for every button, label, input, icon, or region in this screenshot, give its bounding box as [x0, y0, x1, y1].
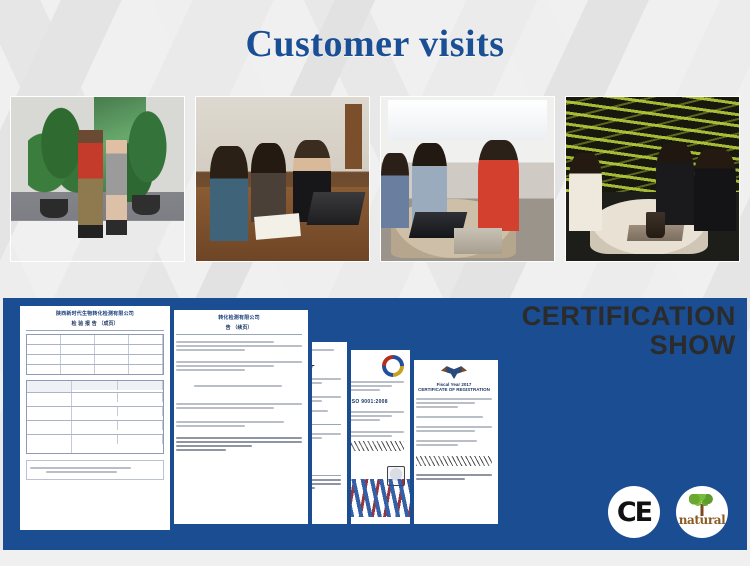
certificate-4-sheet: ISO 9001:2008 — [344, 350, 410, 524]
certificate-of-registration[interactable]: Fiscal Year 2017 CERTIFICATE OF REGISTRA… — [406, 356, 502, 528]
certificate-1-subtitle: 检 验 报 告 （成页） — [26, 320, 164, 327]
photo-4-person-2 — [608, 136, 650, 221]
photo-1-pot-right — [132, 195, 160, 215]
tree-icon — [689, 494, 715, 512]
photo-2-person-1 — [210, 146, 248, 241]
photo-1-plant-right — [118, 110, 177, 202]
certificate-5-eagle-emblem — [441, 365, 467, 379]
certificate-1-title: 陕西新时代生物转化检测有限公司 — [26, 311, 164, 319]
certification-heading-line2: SHOW — [456, 331, 736, 360]
natural-badge[interactable]: natural — [676, 486, 728, 538]
certificate-4-accreditation-emblem — [382, 355, 404, 377]
photo-2-person-2 — [251, 143, 286, 222]
customer-visit-photo-strip — [10, 96, 740, 262]
certificate-5-sheet: Fiscal Year 2017 CERTIFICATE OF REGISTRA… — [410, 360, 498, 524]
certificate-inspection-report-cn-continued[interactable]: 转化检测有限公司 告 （续页） — [166, 306, 312, 528]
photo-3-person-1 — [381, 153, 409, 228]
certificate-1-info-table — [26, 334, 164, 375]
certificate-1-divider — [26, 330, 164, 331]
certificate-iso-9001[interactable]: ISO 9001:2008 — [340, 346, 414, 528]
certificate-2-divider — [176, 334, 302, 335]
certificate-4-signature — [350, 441, 404, 451]
certificate-2-body — [176, 341, 302, 451]
natural-badge-label: natural — [676, 513, 728, 527]
customer-visit-photo-2 — [195, 96, 370, 262]
certificate-1-result-table — [26, 380, 164, 454]
customer-visit-photo-3 — [380, 96, 555, 262]
photo-4-coffee-cup — [646, 212, 665, 238]
certificate-1-sheet: 陕西新时代生物转化检测有限公司 检 验 报 告 （成页） — [20, 306, 170, 530]
photo-1-person-center — [78, 130, 102, 238]
photo-1-person-left — [56, 143, 77, 235]
certificate-2-sheet: 转化检测有限公司 告 （续页） — [170, 310, 308, 524]
certificate-2-subtitle: 告 （续页） — [176, 324, 302, 331]
certification-heading: CERTIFICATION SHOW — [456, 302, 736, 359]
ce-badge[interactable]: CE — [608, 486, 660, 538]
photo-2-wood-panel — [345, 104, 362, 170]
certificate-5-title: CERTIFICATE OF REGISTRATION — [416, 387, 492, 392]
page-title: Customer visits — [245, 22, 504, 66]
certificate-4-standard: ISO 9001:2008 — [350, 399, 404, 405]
certification-badges: CE natural — [608, 486, 728, 538]
photo-1-person-right — [106, 140, 127, 235]
certificate-inspection-report-cn[interactable]: 陕西新时代生物转化检测有限公司 检 验 报 告 （成页） — [16, 302, 174, 534]
photo-2-laptop — [307, 192, 366, 225]
certification-heading-line1: CERTIFICATION — [456, 302, 736, 331]
page-title-band: Customer visits — [0, 0, 750, 88]
customer-visit-photo-1 — [10, 96, 185, 262]
customer-visit-photo-4 — [565, 96, 740, 262]
photo-3-person-3 — [478, 140, 520, 232]
photo-2-documents — [254, 213, 301, 240]
ce-badge-label: CE — [617, 497, 651, 528]
photo-3-product-box — [454, 228, 502, 254]
photo-4-person-4 — [694, 149, 736, 231]
certificate-4-ribbon-graphic — [341, 479, 412, 517]
product-detail-page: Customer visits — [0, 0, 750, 566]
photo-3-backwall — [388, 100, 547, 139]
certificate-5-signature — [416, 456, 492, 466]
certificate-2-title: 转化检测有限公司 — [176, 315, 302, 323]
footer-strip — [0, 550, 750, 566]
photo-4-person-1 — [569, 153, 602, 232]
certificate-1-notes — [26, 460, 164, 480]
